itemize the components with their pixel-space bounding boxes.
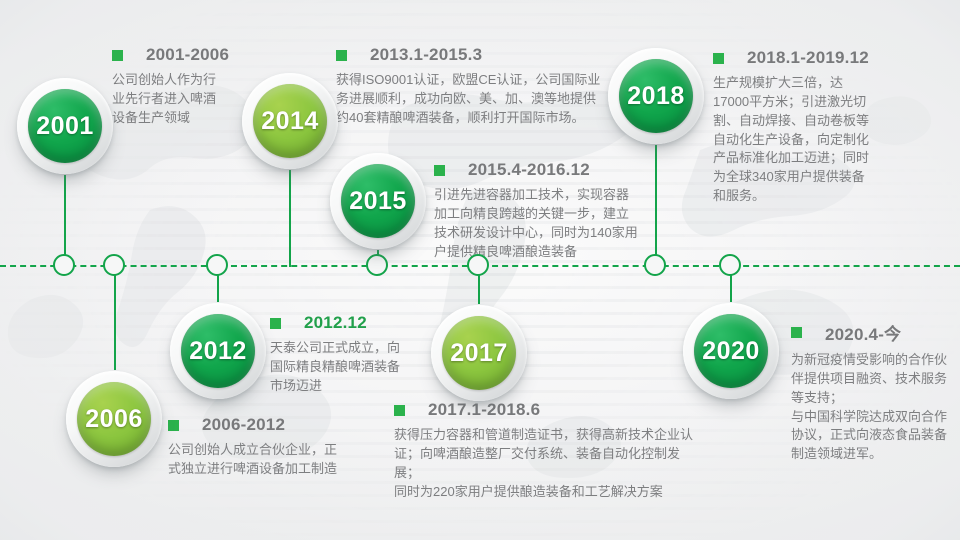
entry-title: 2015.4-2016.12 bbox=[468, 160, 590, 180]
entry-title: 2006-2012 bbox=[202, 415, 285, 435]
entry-2013-2015: 2013.1-2015.3 获得ISO9001认证，欧盟CE认证，公司国际业 务… bbox=[336, 45, 636, 128]
year-badge-2017[interactable]: 2017 bbox=[431, 305, 527, 401]
year-badge-2001-disc: 2001 bbox=[28, 89, 102, 163]
year-label: 2018 bbox=[627, 84, 685, 109]
year-label: 2001 bbox=[36, 114, 94, 139]
entry-title: 2018.1-2019.12 bbox=[747, 48, 869, 68]
year-badge-2018[interactable]: 2018 bbox=[608, 48, 704, 144]
entry-body: 获得压力容器和管道制造证书，获得高新技术企业认 证；向啤酒酿造整厂交付系统、装备… bbox=[394, 426, 694, 501]
year-badge-2015-disc: 2015 bbox=[341, 164, 415, 238]
year-badge-2020-disc: 2020 bbox=[694, 314, 768, 388]
entry-header: 2012.12 bbox=[270, 313, 430, 333]
entry-header: 2017.1-2018.6 bbox=[394, 400, 694, 420]
entry-header: 2018.1-2019.12 bbox=[713, 48, 888, 68]
year-badge-2001[interactable]: 2001 bbox=[17, 78, 113, 174]
year-label: 2020 bbox=[702, 339, 760, 364]
year-badge-2014[interactable]: 2014 bbox=[242, 73, 338, 169]
bullet-square-icon bbox=[713, 53, 724, 64]
entry-header: 2006-2012 bbox=[168, 415, 378, 435]
entry-2015-2016: 2015.4-2016.12 引进先进容器加工技术，实现容器 加工向精良跨越的关… bbox=[434, 160, 664, 261]
entry-2006-2012: 2006-2012 公司创始人成立合伙企业，正 式独立进行啤酒设备加工制造 bbox=[168, 415, 378, 479]
year-badge-2006[interactable]: 2006 bbox=[66, 371, 162, 467]
entry-body: 天泰公司正式成立，向 国际精良精酿啤酒装备 市场迈进 bbox=[270, 339, 430, 396]
entry-2017-2018: 2017.1-2018.6 获得压力容器和管道制造证书，获得高新技术企业认 证；… bbox=[394, 400, 694, 501]
axis-node-1[interactable] bbox=[53, 254, 75, 276]
bullet-square-icon bbox=[270, 318, 281, 329]
entry-title: 2012.12 bbox=[304, 313, 367, 333]
stem-2014 bbox=[289, 170, 291, 267]
year-badge-2017-disc: 2017 bbox=[442, 316, 516, 390]
entry-header: 2020.4-今 bbox=[791, 320, 956, 345]
entry-header: 2001-2006 bbox=[112, 45, 247, 65]
year-badge-2018-disc: 2018 bbox=[619, 59, 693, 133]
stem-2006 bbox=[114, 266, 116, 370]
year-badge-2020[interactable]: 2020 bbox=[683, 303, 779, 399]
entry-body: 获得ISO9001认证，欧盟CE认证，公司国际业 务进展顺利，成功向欧、美、加、… bbox=[336, 71, 636, 128]
axis-node-2[interactable] bbox=[103, 254, 125, 276]
year-label: 2014 bbox=[261, 109, 319, 134]
entry-header: 2013.1-2015.3 bbox=[336, 45, 636, 65]
timeline-infographic: 2001 2014 2015 2018 2012 2006 2017 2020 bbox=[0, 0, 960, 540]
entry-body: 公司创始人作为行 业先行者进入啤酒 设备生产领域 bbox=[112, 71, 247, 128]
entry-title: 2013.1-2015.3 bbox=[370, 45, 482, 65]
axis-node-7[interactable] bbox=[719, 254, 741, 276]
bullet-square-icon bbox=[394, 405, 405, 416]
bullet-square-icon bbox=[112, 50, 123, 61]
year-badge-2014-disc: 2014 bbox=[253, 84, 327, 158]
year-badge-2006-disc: 2006 bbox=[77, 382, 151, 456]
entry-2018-2019: 2018.1-2019.12 生产规模扩大三倍，达 17000平方米；引进激光切… bbox=[713, 48, 888, 206]
entry-2012-12: 2012.12 天泰公司正式成立，向 国际精良精酿啤酒装备 市场迈进 bbox=[270, 313, 430, 396]
entry-body: 引进先进容器加工技术，实现容器 加工向精良跨越的关键一步，建立 技术研发设计中心… bbox=[434, 186, 664, 261]
axis-node-4[interactable] bbox=[366, 254, 388, 276]
bullet-square-icon bbox=[791, 327, 802, 338]
year-badge-2015[interactable]: 2015 bbox=[330, 153, 426, 249]
year-label: 2012 bbox=[189, 339, 247, 364]
entry-body: 生产规模扩大三倍，达 17000平方米；引进激光切 割、自动焊接、自动卷板等 自… bbox=[713, 74, 888, 206]
entry-2001-2006: 2001-2006 公司创始人作为行 业先行者进入啤酒 设备生产领域 bbox=[112, 45, 247, 128]
year-badge-2012[interactable]: 2012 bbox=[170, 303, 266, 399]
entry-title: 2001-2006 bbox=[146, 45, 229, 65]
bullet-square-icon bbox=[336, 50, 347, 61]
year-label: 2017 bbox=[450, 341, 508, 366]
entry-2020-now: 2020.4-今 为新冠疫情受影响的合作伙 伴提供项目融资、技术服务 等支持； … bbox=[791, 320, 956, 464]
entry-header: 2015.4-2016.12 bbox=[434, 160, 664, 180]
axis-node-3[interactable] bbox=[206, 254, 228, 276]
axis-node-6[interactable] bbox=[644, 254, 666, 276]
bullet-square-icon bbox=[434, 165, 445, 176]
year-label: 2015 bbox=[349, 189, 407, 214]
entry-title: 2020.4-今 bbox=[825, 320, 901, 345]
entry-body: 为新冠疫情受影响的合作伙 伴提供项目融资、技术服务 等支持； 与中国科学院达成双… bbox=[791, 351, 956, 464]
bullet-square-icon bbox=[168, 420, 179, 431]
year-label: 2006 bbox=[85, 407, 143, 432]
entry-title: 2017.1-2018.6 bbox=[428, 400, 540, 420]
entry-body: 公司创始人成立合伙企业，正 式独立进行啤酒设备加工制造 bbox=[168, 441, 378, 479]
axis-node-5[interactable] bbox=[467, 254, 489, 276]
year-badge-2012-disc: 2012 bbox=[181, 314, 255, 388]
